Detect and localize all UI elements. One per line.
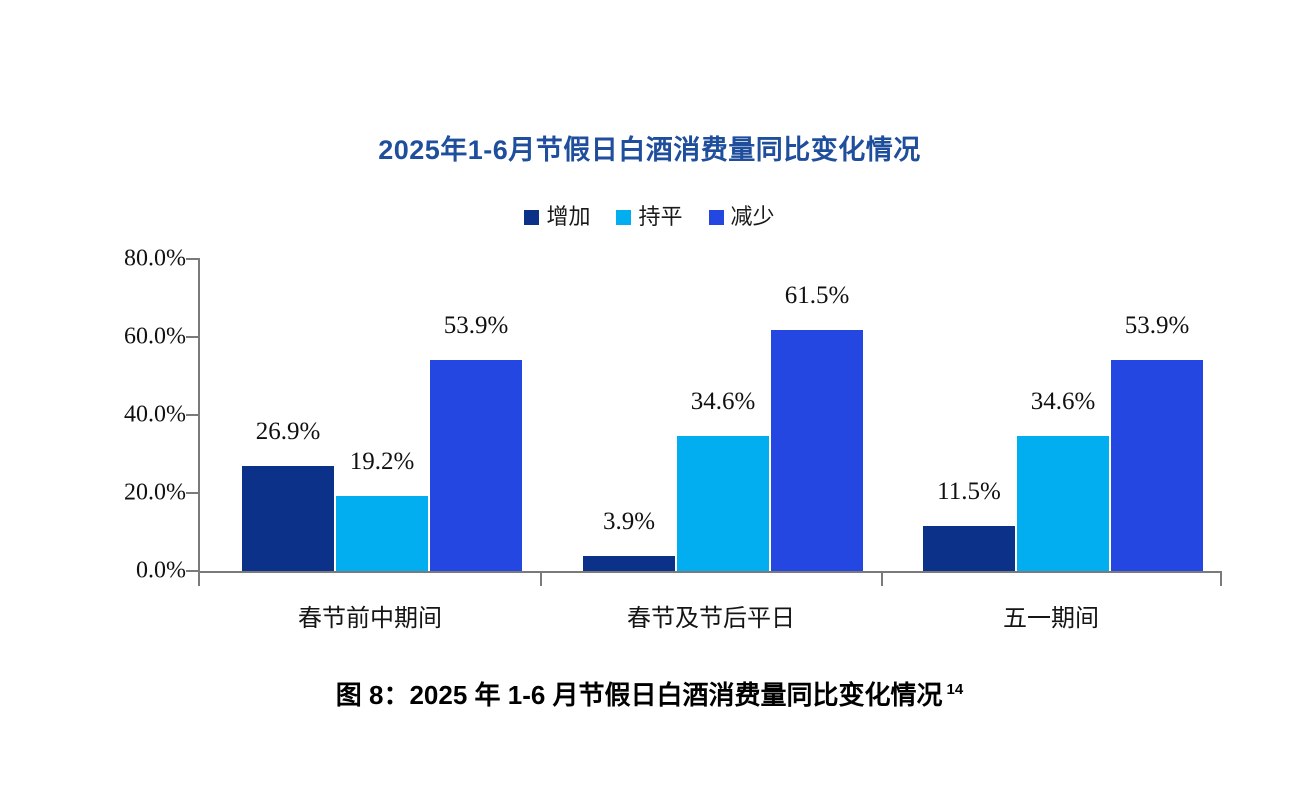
bar-label-increase-1: 3.9% (603, 508, 655, 536)
bar-label-decrease-1: 61.5% (785, 282, 850, 310)
x-axis-group-tick-2 (881, 573, 883, 586)
bar-label-increase-2: 11.5% (937, 478, 1001, 506)
bar-decrease-1[interactable] (771, 330, 863, 571)
figure-caption-footnote: 14 (947, 681, 964, 698)
figure-caption: 图 8：2025 年 1-6 月节假日白酒消费量同比变化情况14 (0, 675, 1299, 712)
bar-increase-1[interactable] (583, 556, 675, 571)
x-axis-line (198, 571, 1222, 573)
bar-increase-0[interactable] (242, 466, 334, 571)
bar-flat-0[interactable] (336, 496, 428, 571)
bar-label-flat-2: 34.6% (1031, 388, 1096, 416)
bar-flat-1[interactable] (677, 436, 769, 571)
x-axis-category-label-0: 春节前中期间 (298, 598, 442, 633)
bar-label-flat-1: 34.6% (691, 388, 756, 416)
y-axis-tick-label-60: 60.0% (124, 324, 186, 351)
x-axis-group-tick-start (198, 573, 200, 586)
bar-label-flat-0: 19.2% (350, 448, 415, 476)
bar-label-decrease-2: 53.9% (1125, 312, 1190, 340)
bar-label-decrease-0: 53.9% (444, 312, 509, 340)
y-axis-tick-label-40: 40.0% (124, 402, 186, 429)
bar-decrease-2[interactable] (1111, 360, 1203, 571)
bar-increase-2[interactable] (923, 526, 1015, 571)
y-axis-tick-label-20: 20.0% (124, 480, 186, 507)
bar-flat-2[interactable] (1017, 436, 1109, 571)
x-axis-category-label-2: 五一期间 (1003, 598, 1099, 633)
bar-label-increase-0: 26.9% (256, 418, 321, 446)
bar-chart-plot-area: 80.0% 60.0% 40.0% 20.0% 0.0% 26.9% 19.2%… (0, 0, 1299, 792)
y-axis-tick-label-0: 0.0% (136, 558, 186, 585)
x-axis-category-label-1: 春节及节后平日 (627, 598, 795, 633)
x-axis-group-tick-end (1220, 573, 1222, 586)
y-axis-tick-label-80: 80.0% (124, 246, 186, 273)
y-axis-line (198, 258, 200, 573)
figure-caption-text: 图 8：2025 年 1-6 月节假日白酒消费量同比变化情况 (336, 680, 943, 710)
bar-decrease-0[interactable] (430, 360, 522, 571)
x-axis-group-tick-1 (540, 573, 542, 586)
